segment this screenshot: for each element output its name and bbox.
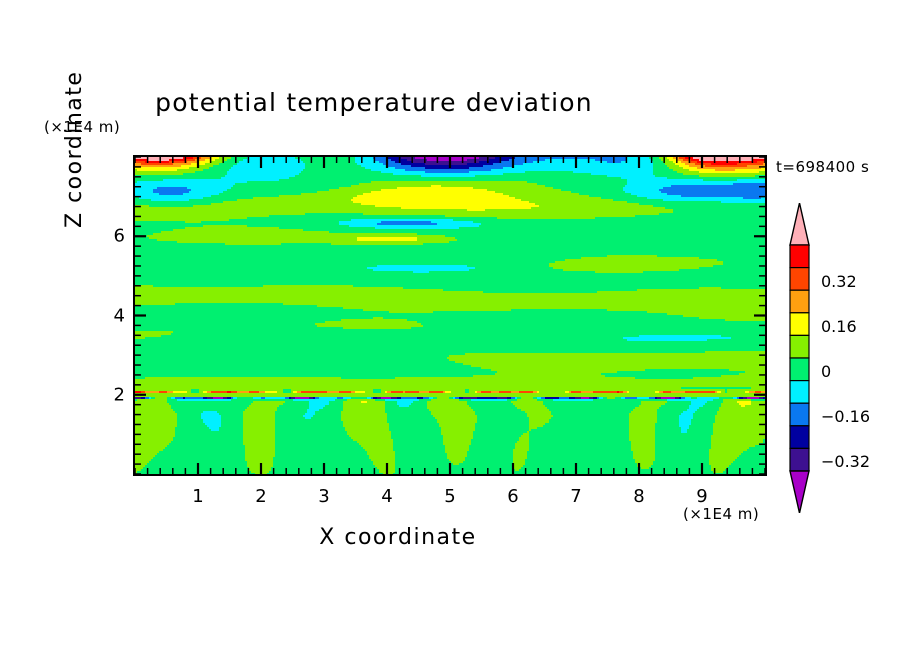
x-tick-label: 1	[192, 486, 203, 507]
x-tick-label: 2	[255, 486, 266, 507]
x-tick-label: 9	[696, 486, 707, 507]
x-tick-label: 3	[318, 486, 329, 507]
colorbar-tick-label: 0.32	[821, 272, 857, 291]
x-tick-label: 8	[633, 486, 644, 507]
figure-canvas: potential temperature deviation (×1E4 m)…	[0, 0, 904, 654]
colorbar-tick-label: −0.32	[821, 452, 870, 471]
colorbar-tick-label: −0.16	[821, 407, 870, 426]
x-tick-label: 4	[381, 486, 392, 507]
x-axis-unit-label: (×1E4 m)	[683, 505, 759, 523]
y-tick-label: 2	[103, 384, 125, 405]
contour-plot-area	[133, 155, 767, 476]
y-tick-label: 6	[103, 226, 125, 247]
colorbar-tick-label: 0	[821, 362, 831, 381]
x-axis-title: X coordinate	[0, 525, 850, 550]
timestamp-annotation: t=698400 s	[776, 158, 869, 176]
x-tick-label: 5	[444, 486, 455, 507]
x-tick-label: 7	[570, 486, 581, 507]
page-title: potential temperature deviation	[0, 88, 826, 117]
contour-field	[135, 157, 765, 474]
colorbar	[784, 203, 820, 513]
y-axis-title: Z coordinate	[62, 28, 87, 228]
colorbar-tick-label: 0.16	[821, 317, 857, 336]
x-tick-label: 6	[507, 486, 518, 507]
y-tick-label: 4	[103, 305, 125, 326]
